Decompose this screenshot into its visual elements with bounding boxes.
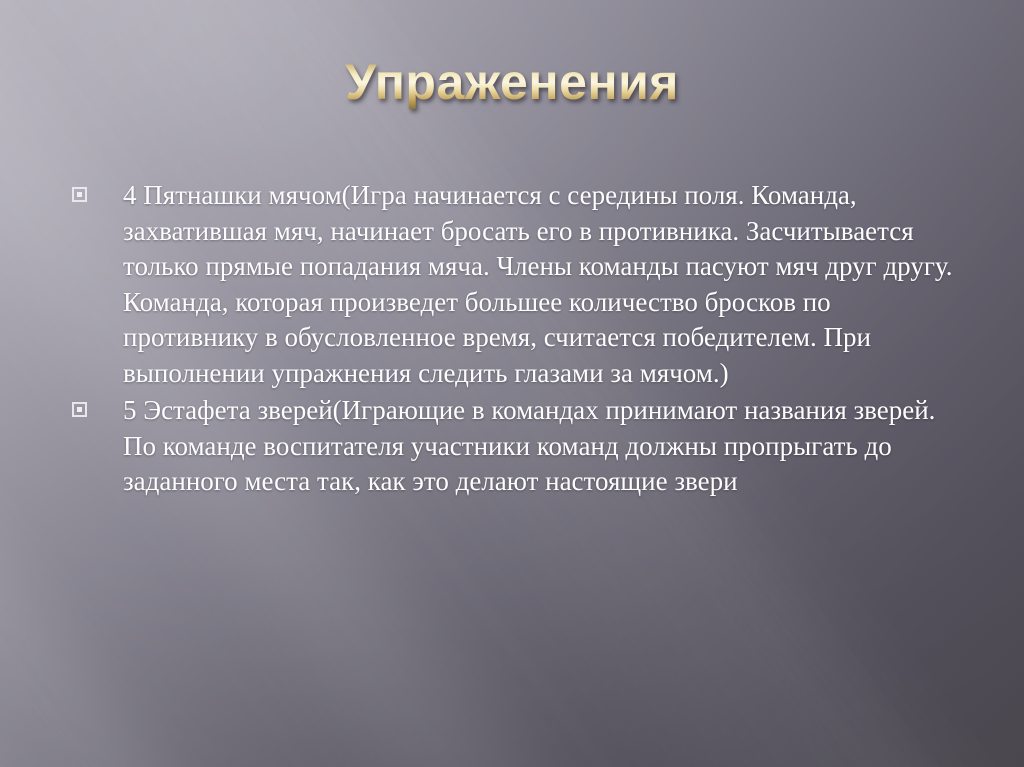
slide-title-container: Упраженения	[0, 56, 1024, 109]
square-outline-dot-icon	[72, 402, 87, 417]
bullet-text: 4 Пятнашки мячом(Игра начинается с серед…	[123, 178, 962, 391]
bullet-text: 5 Эстафета зверей(Играющие в командах пр…	[123, 393, 962, 500]
presentation-slide: Упраженения 4 Пятнашки мячом(Игра начина…	[0, 0, 1024, 767]
list-item: 5 Эстафета зверей(Играющие в командах пр…	[72, 393, 962, 500]
square-outline-dot-icon	[72, 187, 87, 202]
slide-title: Упраженения	[345, 56, 679, 109]
list-item: 4 Пятнашки мячом(Игра начинается с серед…	[72, 178, 962, 391]
slide-body-content: 4 Пятнашки мячом(Игра начинается с серед…	[72, 178, 962, 502]
